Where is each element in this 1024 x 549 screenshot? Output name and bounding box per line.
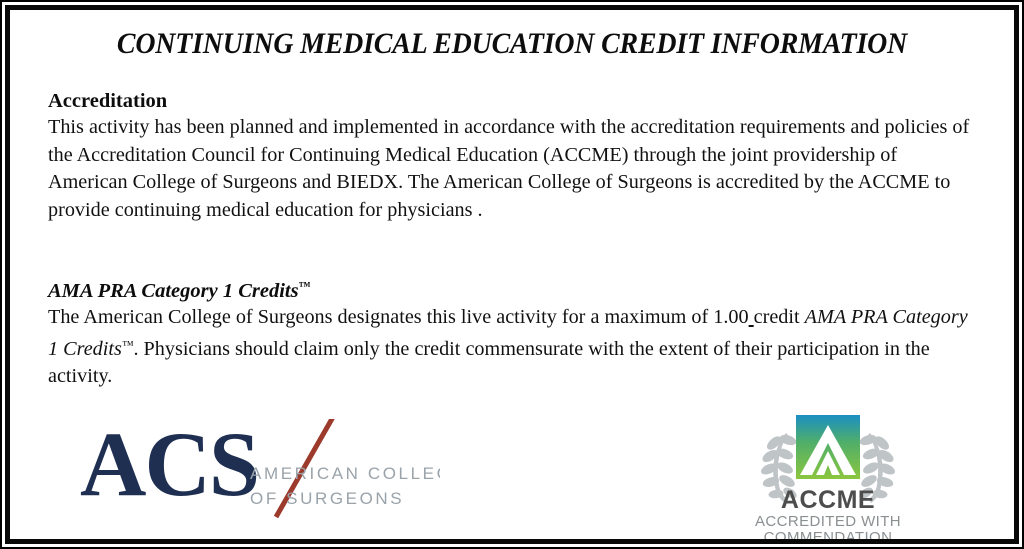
ama-pra-section: AMA PRA Category 1 Credits™ The American… [48, 274, 993, 391]
accreditation-section: Accreditation This activity has been pla… [48, 89, 993, 224]
ama-pra-paragraph: The American College of Surgeons designa… [48, 304, 979, 391]
acs-monogram: ACS [80, 419, 258, 515]
cme-card-inner-frame: CONTINUING MEDICAL EDUCATION CREDIT INFO… [5, 5, 1019, 544]
accme-seal: ACCME ACCREDITED WITH COMMENDATION [752, 413, 904, 543]
accreditation-heading: Accreditation [48, 89, 993, 114]
acs-logo: ACS AMERICAN COLLEGE OF SURGEONS [80, 419, 440, 524]
accme-title: ACCME [781, 486, 875, 514]
page-title: CONTINUING MEDICAL EDUCATION CREDIT INFO… [45, 10, 979, 59]
ama-pra-text-part2: credit [754, 306, 805, 328]
accreditation-paragraph: This activity has been planned and imple… [48, 114, 979, 224]
ama-pra-heading: AMA PRA Category 1 Credits™ [48, 274, 993, 304]
trademark-icon: ™ [299, 279, 311, 293]
cme-body: Accreditation This activity has been pla… [48, 89, 993, 391]
trademark-icon-inline: ™ [122, 338, 134, 352]
logo-row: ACS AMERICAN COLLEGE OF SURGEONS [10, 405, 1014, 544]
acs-tagline-line1: AMERICAN COLLEGE [250, 464, 440, 483]
section-spacer [48, 224, 993, 274]
accme-subtitle-line1: ACCREDITED WITH [755, 513, 901, 530]
cme-credit-card: CONTINUING MEDICAL EDUCATION CREDIT INFO… [0, 0, 1024, 549]
ama-pra-text-part3: . Physicians should claim only the credi… [48, 338, 930, 388]
ama-pra-text-part1: The American College of Surgeons designa… [48, 306, 749, 328]
accme-mountain-icon [796, 415, 860, 479]
accme-subtitle-line2: COMMENDATION [764, 529, 893, 543]
acs-tagline-line2: OF SURGEONS [250, 489, 404, 508]
ama-pra-heading-text: AMA PRA Category 1 Credits [48, 280, 299, 302]
